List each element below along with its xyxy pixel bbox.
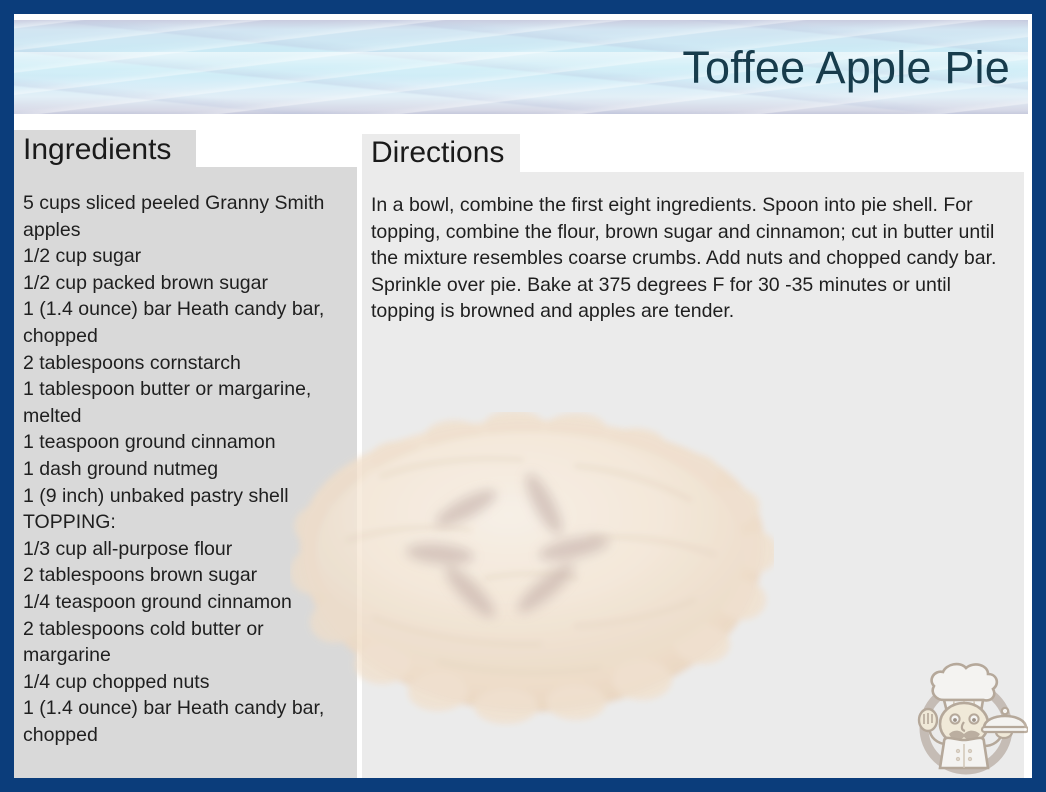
- directions-text: In a bowl, combine the first eight ingre…: [371, 192, 1015, 325]
- page-title: Toffee Apple Pie: [682, 42, 1010, 94]
- ingredient-item: 2 tablespoons cold butter or margarine: [23, 616, 353, 669]
- ingredient-item: 1/4 teaspoon ground cinnamon: [23, 589, 353, 616]
- ingredient-item: 1/4 cup chopped nuts: [23, 669, 353, 696]
- ingredient-item: 2 tablespoons cornstarch: [23, 350, 353, 377]
- ingredient-item: 2 tablespoons brown sugar: [23, 562, 353, 589]
- ingredient-item: 1 (9 inch) unbaked pastry shell: [23, 483, 353, 510]
- recipe-page: Toffee Apple Pie Ingredients 5 cups slic…: [14, 14, 1032, 778]
- ingredient-item: 5 cups sliced peeled Granny Smith apples: [23, 190, 353, 243]
- ingredient-item: 1 (1.4 ounce) bar Heath candy bar, chopp…: [23, 296, 353, 349]
- ingredients-list: 5 cups sliced peeled Granny Smith apples…: [23, 190, 353, 748]
- ingredient-item: 1/3 cup all-purpose flour: [23, 536, 353, 563]
- recipe-card: Toffee Apple Pie Ingredients 5 cups slic…: [0, 0, 1046, 792]
- ingredient-item: 1/2 cup sugar: [23, 243, 353, 270]
- ingredient-item: 1 tablespoon butter or margarine, melted: [23, 376, 353, 429]
- ingredient-item: 1 dash ground nutmeg: [23, 456, 353, 483]
- header-banner: Toffee Apple Pie: [14, 20, 1028, 114]
- ingredient-item: 1 teaspoon ground cinnamon: [23, 429, 353, 456]
- ingredients-heading: Ingredients: [23, 132, 171, 168]
- ingredient-item: TOPPING:: [23, 509, 353, 536]
- directions-heading: Directions: [371, 135, 504, 171]
- ingredient-item: 1 (1.4 ounce) bar Heath candy bar, chopp…: [23, 695, 353, 748]
- ingredient-item: 1/2 cup packed brown sugar: [23, 270, 353, 297]
